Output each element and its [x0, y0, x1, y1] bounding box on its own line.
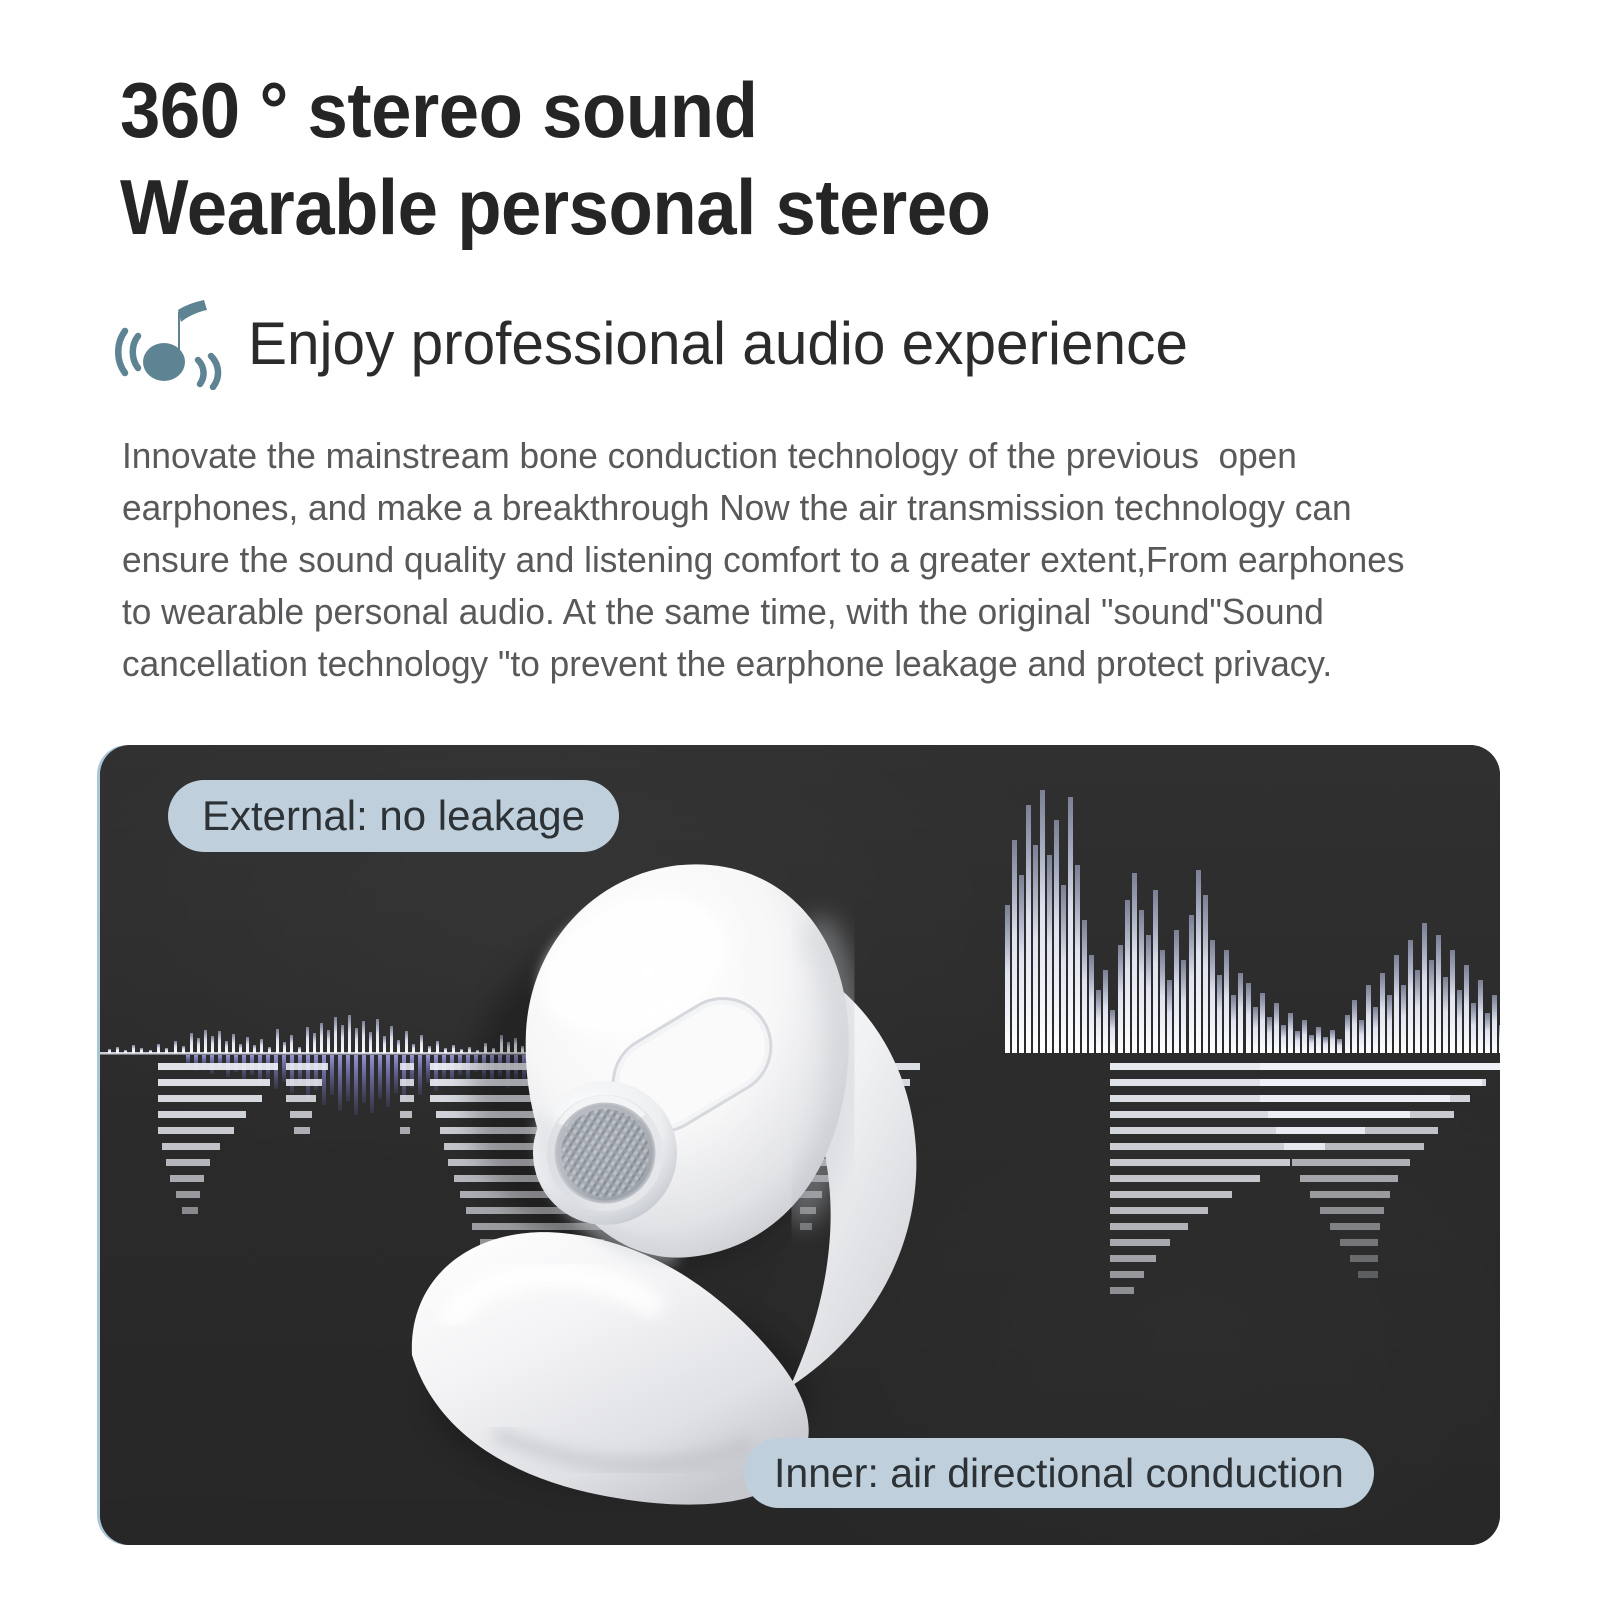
- callout-inner-label: Inner: air directional conduction: [774, 1450, 1344, 1497]
- body-line: ensure the sound quality and listening c…: [122, 534, 1473, 586]
- headline-block: 360 ° stereo sound Wearable personal ste…: [120, 62, 1520, 255]
- body-line: to wearable personal audio. At the same …: [122, 586, 1473, 638]
- subheading-text: Enjoy professional audio experience: [248, 314, 1188, 374]
- headline-line-1: 360 ° stereo sound: [120, 62, 1422, 159]
- callout-external-label: External: no leakage: [202, 792, 585, 840]
- callout-external-no-leakage: External: no leakage: [168, 780, 619, 852]
- product-image-panel: External: no leakage Inner: air directio…: [100, 745, 1500, 1545]
- music-note-icon: [112, 298, 232, 390]
- earphone-product-image: [350, 795, 990, 1535]
- subheading-block: Enjoy professional audio experience: [112, 298, 1212, 390]
- body-line: Innovate the mainstream bone conduction …: [122, 430, 1473, 482]
- callout-inner-conduction: Inner: air directional conduction: [744, 1438, 1374, 1508]
- body-line: earphones, and make a breakthrough Now t…: [122, 482, 1473, 534]
- body-paragraph: Innovate the mainstream bone conduction …: [122, 430, 1522, 690]
- body-line: cancellation technology "to prevent the …: [122, 638, 1473, 690]
- headline-line-2: Wearable personal stereo: [120, 159, 1422, 256]
